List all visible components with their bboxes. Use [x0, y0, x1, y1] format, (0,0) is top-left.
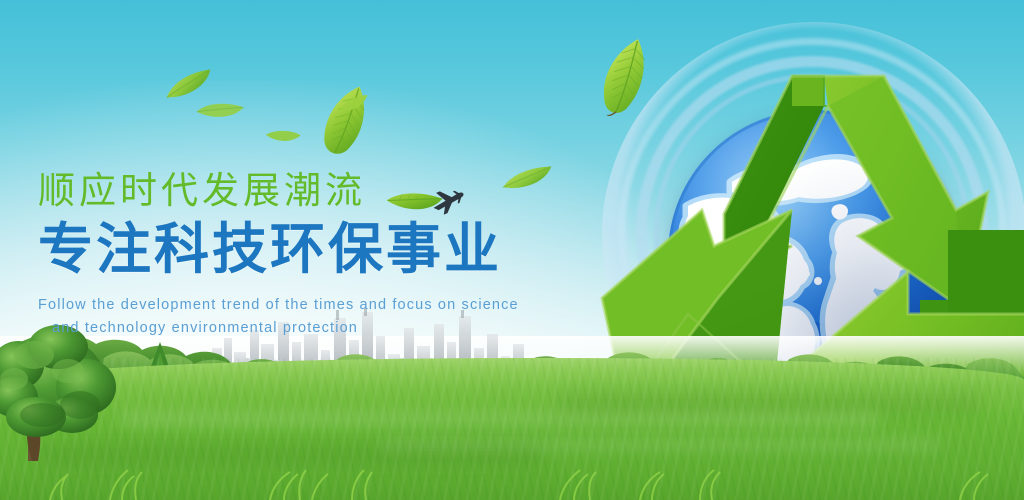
page-title: 专注科技环保事业 — [38, 216, 598, 282]
eco-banner: 顺应时代发展潮流 专注科技环保事业 Follow the development… — [0, 0, 1024, 500]
tagline-line-2: and technology environmental protection — [38, 317, 568, 340]
grass-shadow-band — [560, 396, 980, 412]
grass-highlight-band — [120, 412, 880, 426]
headline-subtitle: 顺应时代发展潮流 — [38, 168, 598, 214]
foreground-grass-blades — [0, 466, 1024, 500]
tagline: Follow the development trend of the time… — [38, 294, 568, 340]
deciduous-tree — [0, 321, 154, 456]
headline-block: 顺应时代发展潮流 专注科技环保事业 Follow the development… — [38, 168, 598, 340]
tagline-line-1: Follow the development trend of the time… — [38, 297, 519, 313]
landscape — [0, 345, 1024, 500]
